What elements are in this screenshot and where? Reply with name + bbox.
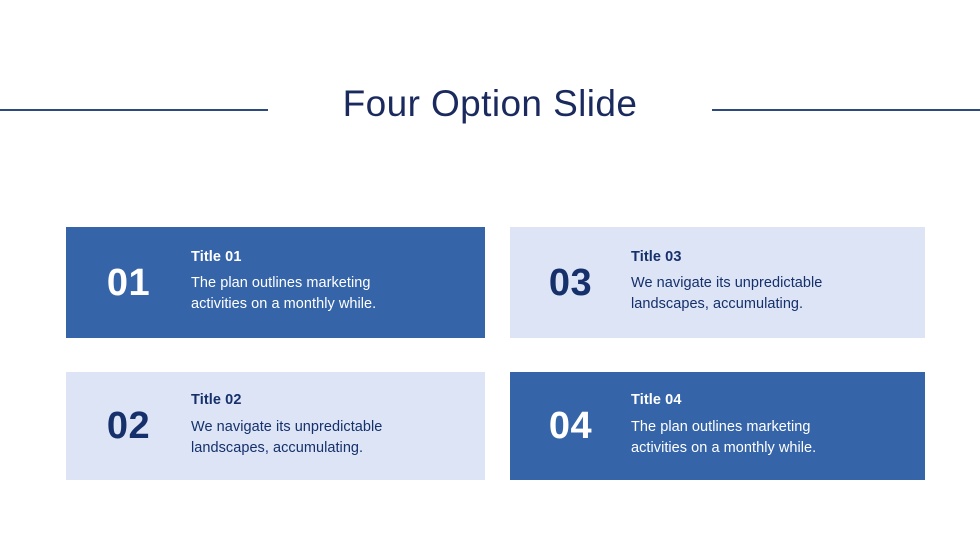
option-card-02[interactable]: 02 Title 02 We navigate its unpredictabl… [66,372,485,480]
option-desc-01-line2: activities on a monthly while. [191,294,475,315]
option-desc-04-line2: activities on a monthly while. [631,438,915,459]
option-title-04: Title 04 [631,393,915,408]
option-body-02: Title 02 We navigate its unpredictable l… [191,393,485,459]
option-desc-03: We navigate its unpredictable landscapes… [631,273,915,315]
option-desc-04-line1: The plan outlines marketing [631,417,915,438]
title-rule-right [712,109,980,111]
option-desc-03-line2: landscapes, accumulating. [631,294,915,315]
option-card-04[interactable]: 04 Title 04 The plan outlines marketing … [510,372,925,480]
option-title-02: Title 02 [191,393,475,408]
option-body-04: Title 04 The plan outlines marketing act… [631,393,925,459]
slide-header: Four Option Slide [0,78,980,134]
option-desc-02: We navigate its unpredictable landscapes… [191,417,475,459]
option-number-02: 02 [66,407,191,445]
option-title-01: Title 01 [191,250,475,265]
option-number-03: 03 [510,264,631,302]
option-card-03[interactable]: 03 Title 03 We navigate its unpredictabl… [510,227,925,338]
option-desc-04: The plan outlines marketing activities o… [631,417,915,459]
option-desc-01-line1: The plan outlines marketing [191,273,475,294]
option-number-04: 04 [510,407,631,445]
option-title-03: Title 03 [631,250,915,265]
slide-canvas: Four Option Slide 01 Title 01 The plan o… [0,0,980,551]
option-desc-02-line1: We navigate its unpredictable [191,417,475,438]
option-number-01: 01 [66,264,191,302]
page-title: Four Option Slide [280,78,700,130]
option-desc-02-line2: landscapes, accumulating. [191,438,475,459]
option-desc-01: The plan outlines marketing activities o… [191,273,475,315]
option-card-01[interactable]: 01 Title 01 The plan outlines marketing … [66,227,485,338]
option-body-03: Title 03 We navigate its unpredictable l… [631,250,925,316]
title-rule-left [0,109,268,111]
option-body-01: Title 01 The plan outlines marketing act… [191,250,485,316]
option-desc-03-line1: We navigate its unpredictable [631,273,915,294]
